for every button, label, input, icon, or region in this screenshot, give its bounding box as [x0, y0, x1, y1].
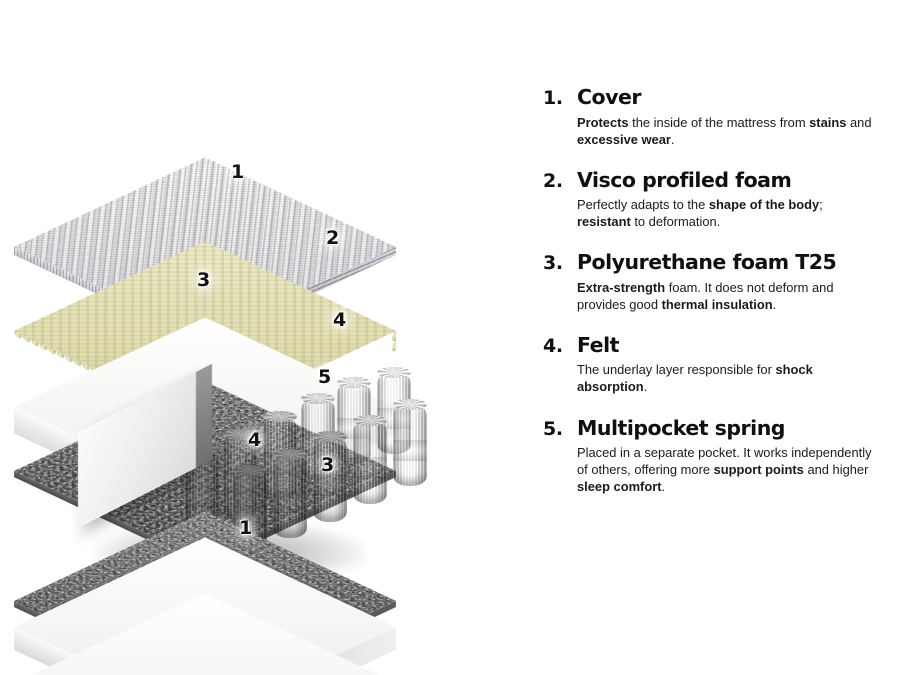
legend-entry-heading: 1.Cover: [543, 86, 883, 110]
legend-entry-title: Polyurethane foam T25: [577, 251, 836, 275]
layer-legend-list: 1.CoverProtects the inside of the mattre…: [543, 86, 883, 495]
legend-entry-3: 3.Polyurethane foam T25Extra-strength fo…: [543, 251, 883, 313]
legend-entry-description: Extra-strength foam. It does not deform …: [577, 279, 877, 313]
legend-entry-title: Cover: [577, 86, 641, 110]
callout-felt-top: 4: [333, 311, 346, 330]
legend-entry-description: Perfectly adapts to the shape of the bod…: [577, 196, 877, 230]
legend-entry-description: Protects the inside of the mattress from…: [577, 114, 877, 148]
legend-entry-number: 4.: [543, 335, 577, 357]
legend-entry-title: Multipocket spring: [577, 417, 785, 441]
legend-entry-heading: 5.Multipocket spring: [543, 417, 883, 441]
legend-entry-title: Felt: [577, 334, 619, 358]
cover-bottom-plate: [14, 593, 396, 675]
callout-pu-foam-top: 3: [197, 271, 210, 290]
legend-entry-number: 1.: [543, 87, 577, 109]
callout-visco: 2: [326, 229, 339, 248]
legend-entry-description: The underlay layer responsible for shock…: [577, 361, 877, 395]
callout-pu-foam-bot: 3: [321, 456, 334, 475]
legend-entry-1: 1.CoverProtects the inside of the mattre…: [543, 86, 883, 148]
legend-entry-title: Visco profiled foam: [577, 169, 791, 193]
callout-cover-top: 1: [231, 163, 244, 182]
legend-entry-heading: 3.Polyurethane foam T25: [543, 251, 883, 275]
legend-entry-5: 5.Multipocket springPlaced in a separate…: [543, 417, 883, 496]
callout-springs: 5: [318, 368, 331, 387]
layer-cover-bottom: [70, 548, 490, 675]
callout-felt-bottom: 4: [248, 431, 261, 450]
legend-entry-heading: 4.Felt: [543, 334, 883, 358]
legend-entry-number: 3.: [543, 252, 577, 274]
legend-entry-4: 4.FeltThe underlay layer responsible for…: [543, 334, 883, 396]
legend-entry-number: 5.: [543, 418, 577, 440]
callout-cover-bottom: 1: [239, 519, 252, 538]
legend-entry-2: 2.Visco profiled foamPerfectly adapts to…: [543, 169, 883, 231]
legend-entry-heading: 2.Visco profiled foam: [543, 169, 883, 193]
legend-entry-description: Placed in a separate pocket. It works in…: [577, 444, 877, 495]
mattress-layers-infographic: 12345431 1.CoverProtects the inside of t…: [0, 0, 900, 675]
exploded-mattress-illustration: [70, 100, 490, 590]
cover-bottom-top-face: [14, 593, 396, 675]
legend-entry-number: 2.: [543, 170, 577, 192]
